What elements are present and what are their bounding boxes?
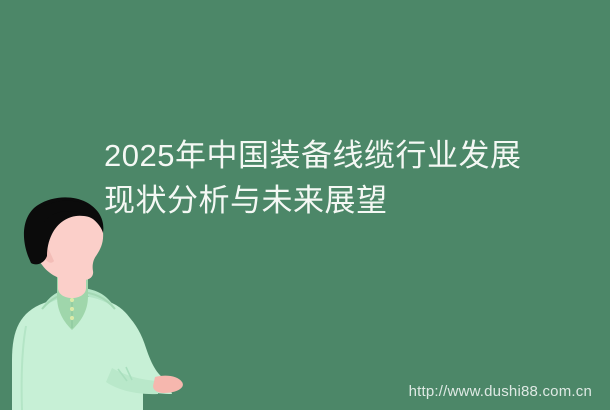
title-line-1: 2025年中国装备线缆行业发展 bbox=[104, 133, 496, 178]
sweater-group bbox=[12, 288, 183, 410]
promo-banner: 2025年中国装备线缆行业发展 现状分析与未来展望 http://www.dus… bbox=[0, 0, 610, 410]
title-line-2: 现状分析与未来展望 bbox=[104, 178, 496, 223]
source-url-watermark: http://www.dushi88.com.cn bbox=[409, 383, 592, 400]
collar-button-1 bbox=[70, 298, 74, 302]
hand-shape bbox=[153, 376, 183, 393]
banner-title: 2025年中国装备线缆行业发展 现状分析与未来展望 bbox=[104, 133, 496, 223]
collar-button-2 bbox=[70, 307, 74, 311]
collar-button-3 bbox=[70, 316, 74, 320]
